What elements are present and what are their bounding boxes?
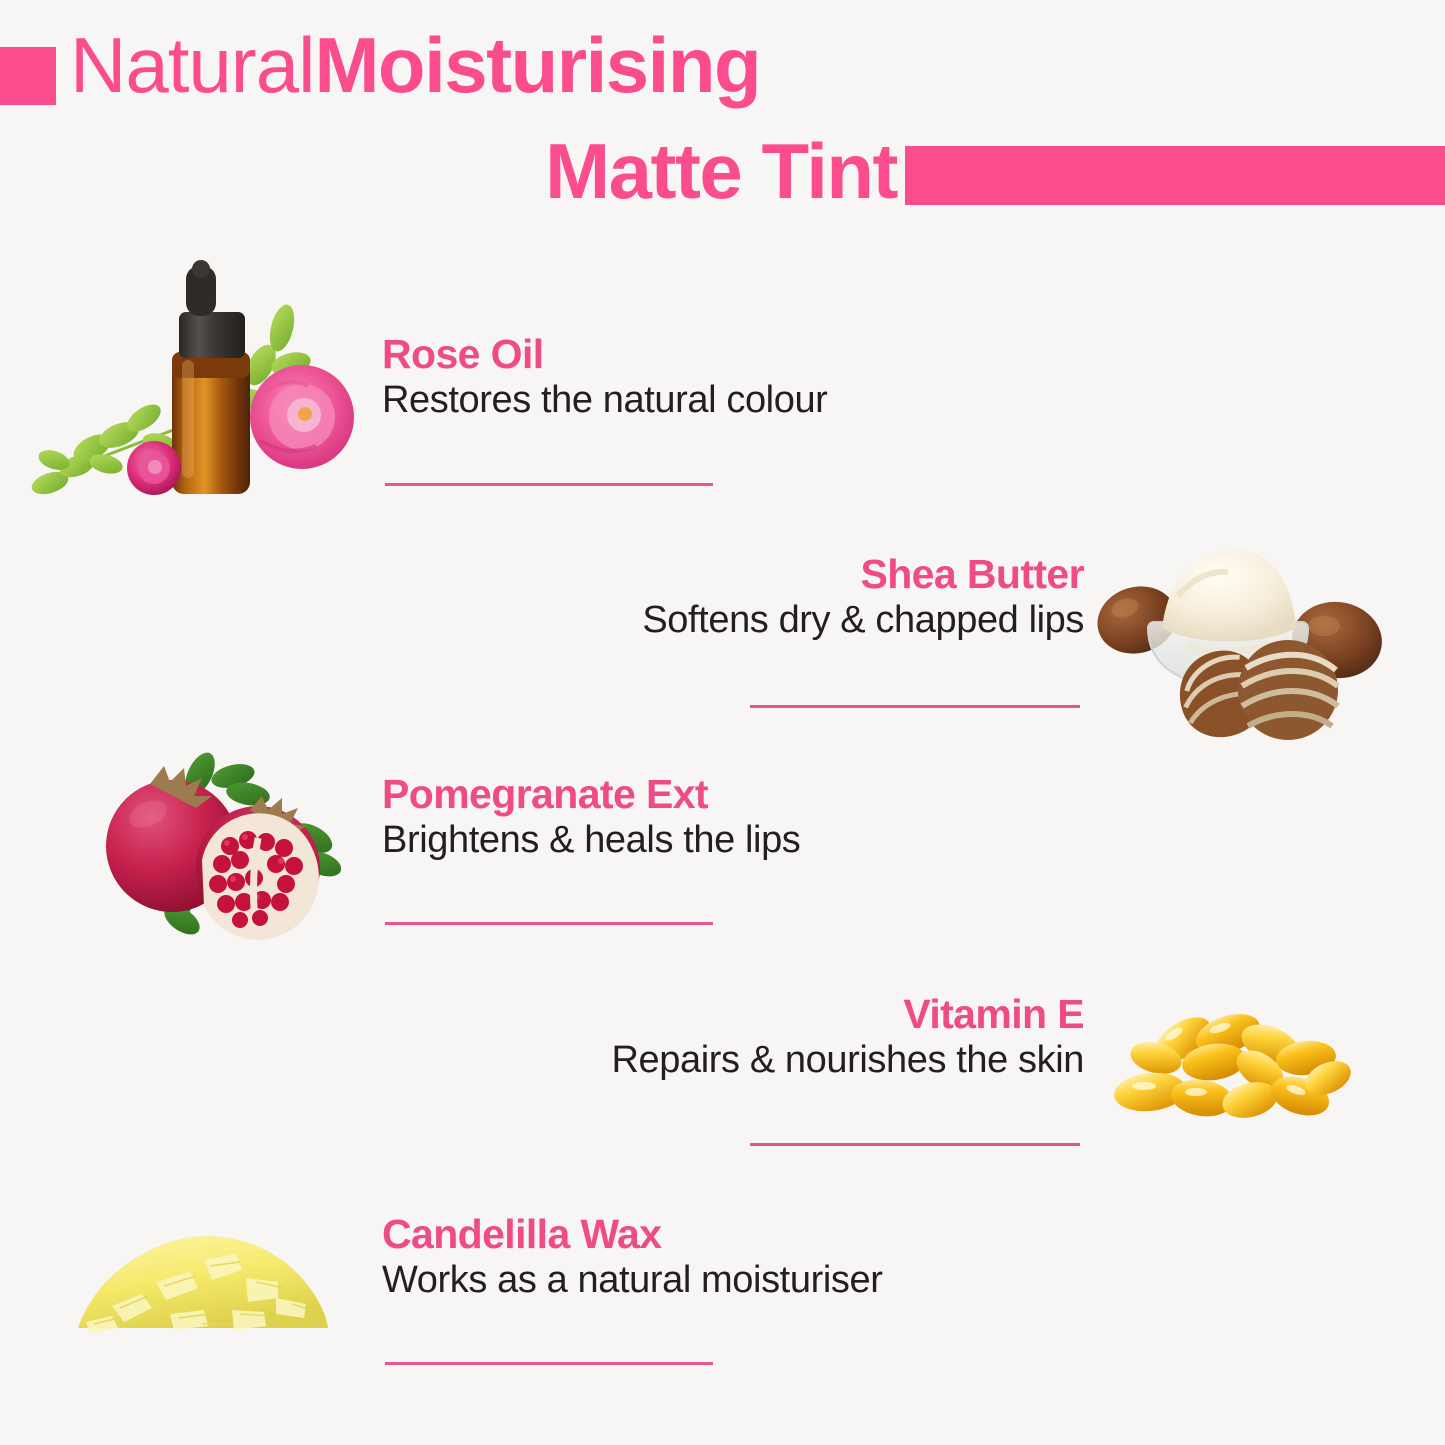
ingredient-divider-pomegranate: [385, 922, 713, 925]
header-accent-square: [0, 47, 56, 105]
ingredient-name: Candelilla Wax: [382, 1212, 882, 1258]
page-header: NaturalMoisturising Matte Tint: [0, 0, 1445, 230]
page-title-word-moisturising: Moisturising: [314, 21, 760, 109]
ingredient-text-candelilla-wax: Candelilla Wax Works as a natural moistu…: [382, 1212, 882, 1304]
pomegranate-image: [90, 742, 352, 942]
ingredient-text-vitamin-e: Vitamin E Repairs & nourishes the skin: [540, 992, 1084, 1084]
ingredient-infographic-page: NaturalMoisturising Matte Tint: [0, 0, 1445, 1445]
page-title-line-2: Matte Tint: [70, 132, 897, 210]
ingredient-description: Repairs & nourishes the skin: [540, 1038, 1084, 1084]
rose-oil-image: [14, 252, 362, 508]
ingredient-name: Shea Butter: [548, 552, 1084, 598]
ingredient-divider-candelilla-wax: [385, 1362, 713, 1365]
ingredient-divider-rose-oil: [385, 483, 713, 486]
ingredient-name: Rose Oil: [382, 332, 827, 378]
ingredient-text-shea-butter: Shea Butter Softens dry & chapped lips: [548, 552, 1084, 644]
shea-butter-image: [1092, 530, 1422, 752]
candelilla-wax-image: [60, 1210, 342, 1342]
ingredient-description: Restores the natural colour: [382, 378, 827, 424]
page-title-word-natural: Natural: [70, 21, 314, 109]
ingredient-description: Softens dry & chapped lips: [548, 598, 1084, 644]
vitamin-e-image: [1110, 1000, 1360, 1132]
ingredient-divider-shea-butter: [750, 705, 1080, 708]
ingredient-description: Works as a natural moisturiser: [382, 1258, 882, 1304]
page-title-word-matte-tint: Matte Tint: [545, 127, 897, 215]
ingredient-text-pomegranate: Pomegranate Ext Brightens & heals the li…: [382, 772, 800, 864]
ingredient-name: Vitamin E: [540, 992, 1084, 1038]
ingredient-description: Brightens & heals the lips: [382, 818, 800, 864]
ingredient-text-rose-oil: Rose Oil Restores the natural colour: [382, 332, 827, 424]
ingredient-name: Pomegranate Ext: [382, 772, 800, 818]
ingredient-divider-vitamin-e: [750, 1143, 1080, 1146]
header-accent-bar: [905, 146, 1445, 205]
page-title-line-1: NaturalMoisturising: [70, 26, 900, 104]
